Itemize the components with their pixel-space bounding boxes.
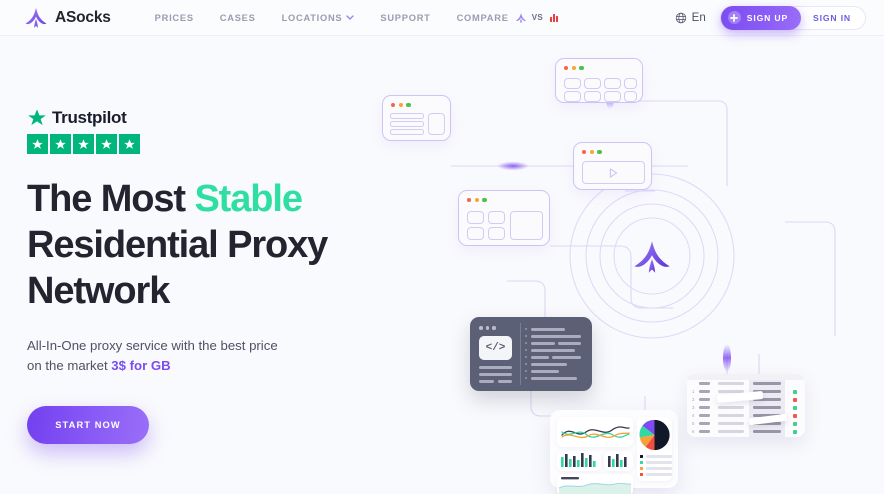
data-table-card: 1 2 3 4 5 6: [687, 374, 805, 437]
brand-name: ASocks: [55, 9, 111, 27]
subtitle-price: 3$ for GB: [111, 358, 170, 373]
area-chart-panel: [557, 474, 633, 494]
headline-part-3: Network: [27, 270, 169, 312]
nav-link-support-label: SUPPORT: [380, 13, 430, 23]
table-row-number: 4: [692, 413, 694, 418]
trustpilot-logo: Trustpilot: [27, 108, 447, 128]
table-row-number: 6: [692, 429, 694, 434]
nav-link-locations[interactable]: LOCATIONS: [282, 13, 355, 23]
brand-logo[interactable]: ASocks: [24, 6, 111, 30]
nav-link-prices[interactable]: PRICES: [155, 13, 194, 23]
trustpilot-star-icon: [27, 108, 47, 128]
line-chart: [557, 417, 633, 447]
trustpilot-label: Trustpilot: [52, 108, 126, 128]
pie-legend-item: [640, 461, 672, 464]
code-brackets-icon: </>: [479, 336, 512, 360]
headline-part-2: Residential Proxy: [27, 224, 327, 266]
pie-legend-item: [640, 467, 672, 470]
browser-card-video: [573, 142, 652, 190]
hero-subtitle: All-In-One proxy service with the best p…: [27, 336, 287, 376]
area-chart: [557, 474, 633, 494]
globe-icon: [675, 12, 687, 24]
pie-chart-panel: [637, 417, 672, 481]
nav-link-compare[interactable]: COMPARE VS: [457, 12, 558, 24]
asocks-tri-arc-logo-icon: [24, 6, 48, 30]
play-icon: [609, 168, 618, 178]
headline-part-1: The Most: [27, 178, 194, 220]
table-row-number: 2: [692, 397, 694, 402]
pie-chart: [637, 418, 672, 452]
bar-chart-2: [604, 451, 633, 471]
pie-legend-item: [640, 455, 672, 458]
analytics-dashboard-card: [550, 410, 678, 488]
traffic-light-dots: [391, 103, 411, 107]
nav-links: PRICES CASES LOCATIONS SUPPORT COMPARE: [155, 12, 558, 24]
nav-link-cases-label: CASES: [220, 13, 256, 23]
pie-legend-item: [640, 473, 672, 476]
start-now-button[interactable]: START NOW: [27, 406, 149, 444]
sign-up-button[interactable]: SIGN UP: [721, 6, 801, 30]
gift-badge-icon: [728, 11, 741, 24]
trustpilot-star-4: [96, 134, 117, 154]
trustpilot-rating: Trustpilot: [27, 108, 447, 154]
window-dots: [479, 326, 496, 330]
headline-accent: Stable: [194, 178, 301, 220]
table-row-number: 5: [692, 421, 694, 426]
browser-card-grid: [555, 58, 643, 103]
chevron-down-icon: [346, 15, 354, 20]
nav-link-prices-label: PRICES: [155, 13, 194, 23]
traffic-light-dots: [582, 150, 602, 154]
trustpilot-star-3: [73, 134, 94, 154]
compare-vs-label: VS: [532, 13, 543, 22]
trustpilot-star-1: [27, 134, 48, 154]
sign-in-label: SIGN IN: [813, 13, 851, 23]
trustpilot-star-5: [119, 134, 140, 154]
asocks-logo-icon: [515, 12, 527, 24]
language-switcher[interactable]: En: [675, 12, 706, 24]
language-label: En: [692, 12, 706, 24]
landing-page: ASocks PRICES CASES LOCATIONS SUPPORT CO…: [0, 0, 884, 494]
trustpilot-star-2: [50, 134, 71, 154]
bar-chart-1: [557, 451, 601, 471]
nav-link-compare-label: COMPARE: [457, 13, 509, 23]
table-row-number: 1: [692, 389, 694, 394]
nav-right-actions: En SIGN UP SIGN IN: [675, 6, 866, 30]
sign-in-button[interactable]: SIGN IN: [801, 13, 863, 23]
nav-link-support[interactable]: SUPPORT: [380, 13, 430, 23]
code-editor-card: </>: [470, 317, 592, 391]
nav-link-cases[interactable]: CASES: [220, 13, 256, 23]
hero-section: Trustpilot The Most Stable Residential P…: [27, 108, 447, 444]
bar-chart-panel-1: [557, 451, 601, 471]
traffic-light-dots: [564, 66, 584, 70]
table-row-number: 3: [692, 405, 694, 410]
auth-buttons: SIGN UP SIGN IN: [720, 6, 866, 30]
browser-card-gallery: [458, 190, 550, 246]
page-title: The Most Stable Residential Proxy Networ…: [27, 176, 447, 314]
line-chart-panel: [557, 417, 633, 447]
trustpilot-stars: [27, 134, 447, 154]
sign-up-label: SIGN UP: [747, 13, 788, 23]
competitor-bars-icon: [550, 14, 558, 22]
asocks-emblem-logo-icon: [631, 236, 673, 278]
nav-link-locations-label: LOCATIONS: [282, 13, 343, 23]
top-navigation-bar: ASocks PRICES CASES LOCATIONS SUPPORT CO…: [0, 0, 884, 36]
bar-chart-panel-2: [604, 451, 633, 471]
traffic-light-dots: [467, 198, 487, 202]
